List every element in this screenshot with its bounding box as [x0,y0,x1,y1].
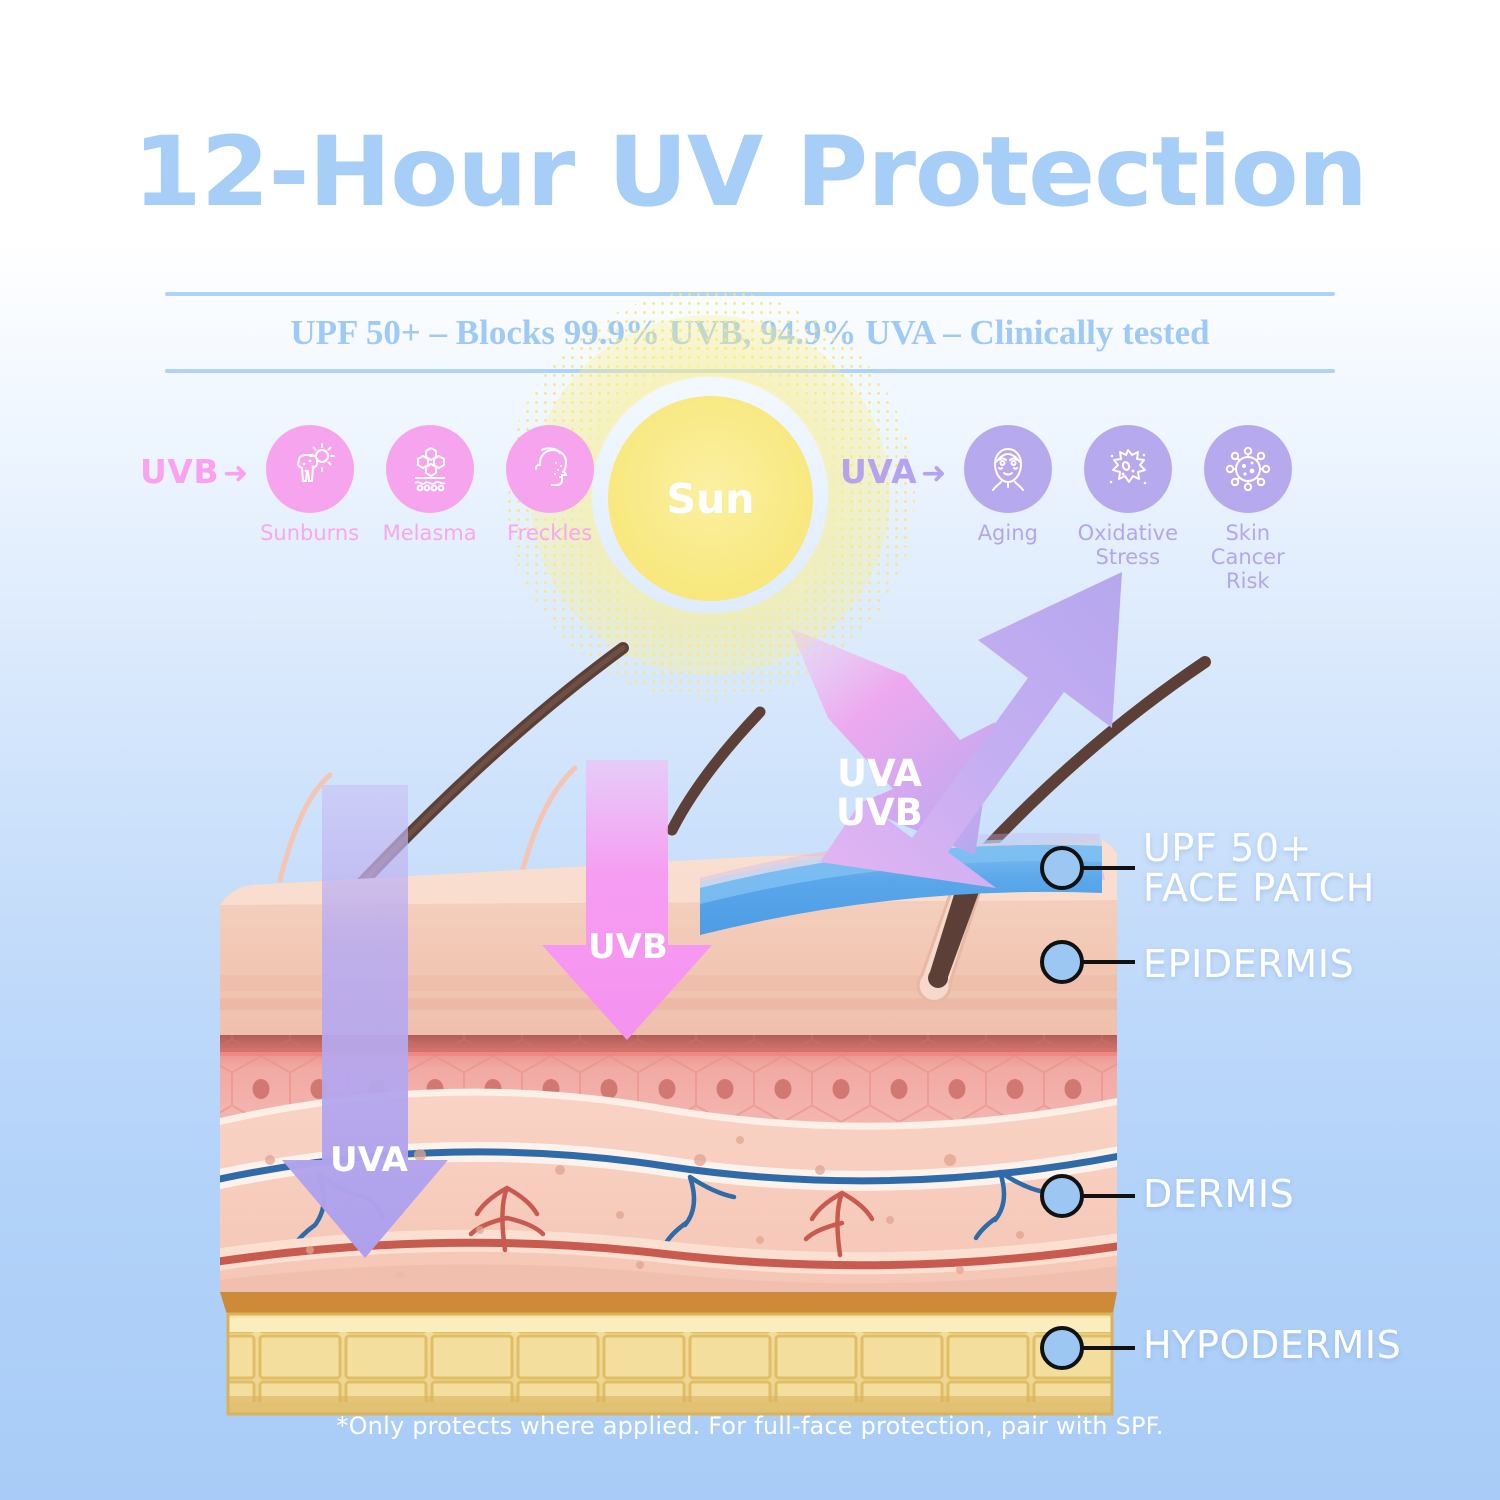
dermis-layer [215,1096,1120,1292]
sun-label: Sun [667,475,755,523]
uvb-item-freckles[interactable]: Freckles [491,425,609,545]
uvb-tag-label: UVB [140,452,219,491]
uvb-item-sunburns[interactable]: Sunburns [251,425,369,545]
hair-follicle [918,856,990,1001]
uva-penetration-arrow [282,785,448,1258]
page-title: 12-Hour UV Protection [0,116,1500,228]
sunburn-icon [266,425,354,513]
uvb-effects-group: UVB➜ Sunburns [140,425,609,545]
uva-effects-group: UVA➜ Aging [840,425,1307,593]
callout-dermis: DERMIS [1143,1174,1294,1214]
infographic-canvas: 12-Hour UV Protection UPF 50+ – Blocks 9… [0,0,1500,1500]
uvb-tag: UVB➜ [140,455,249,489]
callout-markers [1042,848,1135,1368]
free-radical-icon [1084,425,1172,513]
epidermis-layer [210,836,1140,1035]
incoming-arrow-label: UVA UVB [836,755,923,833]
uvb-item-label: Sunburns [251,521,369,545]
uva-item-aging[interactable]: Aging [949,425,1067,545]
cancer-cell-icon [1204,425,1292,513]
uvb-item-melasma[interactable]: Melasma [371,425,489,545]
sun-icon: Sun [608,396,813,601]
uva-item-label: Skin Cancer Risk [1189,521,1307,593]
uvb-item-label: Melasma [371,521,489,545]
uva-arrow-label: UVA [330,1143,408,1179]
uva-tag-label: UVA [840,452,917,491]
marker-epidermis [1042,942,1082,982]
marker-patch [1042,848,1082,888]
hypodermis-layer [220,1292,1117,1414]
uva-item-oxidative-stress[interactable]: Oxidative Stress [1069,425,1187,569]
uvb-arrow-label: UVB [588,930,668,966]
arrow-right-icon: ➜ [223,456,249,491]
melasma-icon [386,425,474,513]
uva-item-label: Aging [949,521,1067,545]
uva-item-skin-cancer-risk[interactable]: Skin Cancer Risk [1189,425,1307,593]
callout-epidermis: EPIDERMIS [1143,944,1354,984]
arrow-right-icon: ➜ [921,456,947,491]
uvb-penetration-arrow [542,760,712,1040]
uvb-item-label: Freckles [491,521,609,545]
marker-hypodermis [1042,1328,1082,1368]
callout-upf-face-patch: UPF 50+ FACE PATCH [1143,828,1375,909]
upf-face-patch [700,833,1105,935]
footnote: *Only protects where applied. For full-f… [0,1412,1500,1440]
freckles-icon [506,425,594,513]
aging-face-icon [964,425,1052,513]
marker-dermis [1042,1176,1082,1216]
uva-tag: UVA➜ [840,455,947,489]
callout-hypodermis: HYPODERMIS [1143,1325,1401,1365]
uva-item-label: Oxidative Stress [1069,521,1187,569]
